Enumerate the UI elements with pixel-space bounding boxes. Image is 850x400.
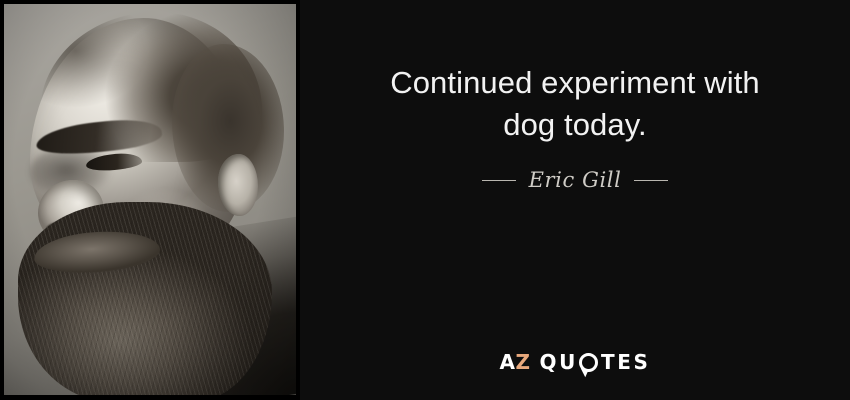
portrait-frame bbox=[4, 4, 296, 395]
logo-letter-z: Z bbox=[516, 350, 531, 374]
speech-bubble-icon bbox=[579, 353, 598, 372]
attribution-dash-left bbox=[482, 180, 516, 181]
attribution-dash-right bbox=[634, 180, 668, 181]
attribution-author[interactable]: Eric Gill bbox=[529, 168, 622, 192]
azquotes-logo[interactable]: AZ QU TES bbox=[300, 352, 850, 372]
logo-quotes-part-2: TES bbox=[601, 352, 651, 372]
portrait-beard-texture bbox=[18, 202, 272, 395]
portrait-ear bbox=[218, 154, 258, 216]
portrait-pane bbox=[0, 0, 300, 400]
content-pane: Continued experiment with dog today. Eri… bbox=[300, 0, 850, 400]
speech-bubble-tail bbox=[579, 368, 588, 377]
author-portrait-image bbox=[4, 4, 296, 395]
quote-card: Continued experiment with dog today. Eri… bbox=[0, 0, 850, 400]
logo-az-wordmark: AZ bbox=[500, 352, 531, 372]
logo-letter-a: A bbox=[500, 350, 516, 374]
quote-text: Continued experiment with dog today. bbox=[360, 0, 790, 146]
attribution: Eric Gill bbox=[482, 168, 669, 192]
logo-quotes-wordmark: QU TES bbox=[540, 352, 651, 372]
logo-quotes-part-1: QU bbox=[540, 352, 578, 372]
